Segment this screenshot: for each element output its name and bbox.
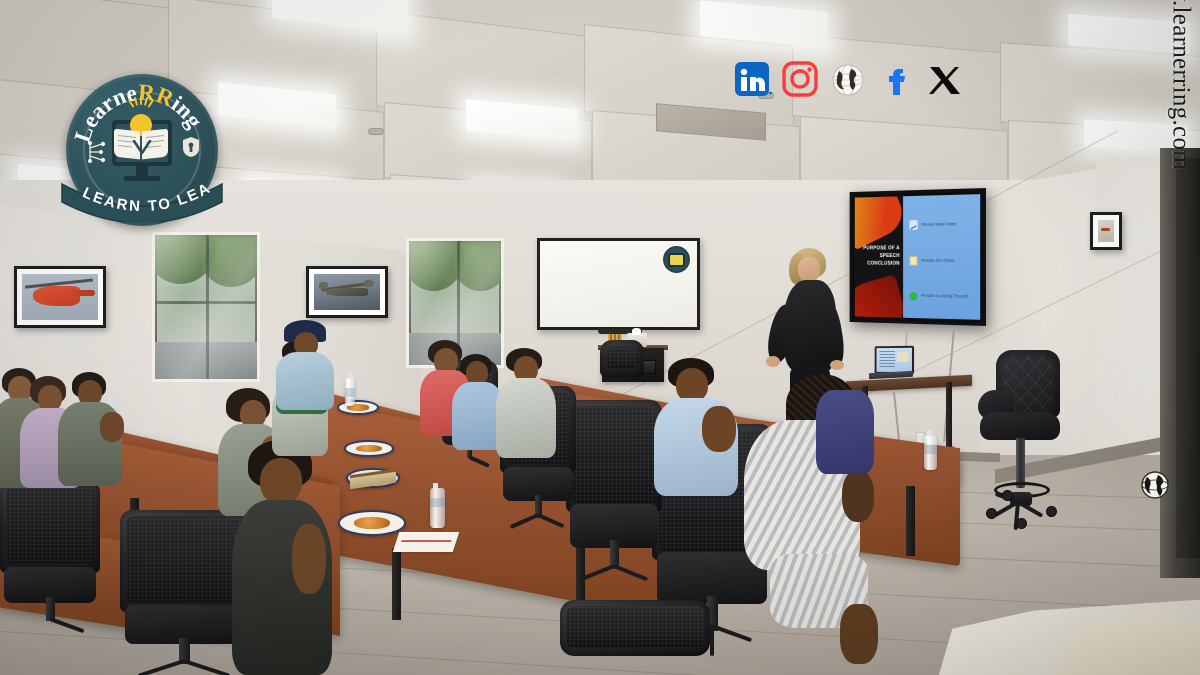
slide-bullets-panel: Review Main Points Restate the Thesis Pr… <box>903 194 980 320</box>
chair-caster <box>1016 518 1027 529</box>
instagram-icon[interactable] <box>781 60 821 100</box>
paper-plate <box>337 400 379 415</box>
slide-title-line-2: SPEECH <box>855 253 900 261</box>
node-network-icon <box>86 140 108 164</box>
water-bottle <box>430 488 445 528</box>
presentation-slide: PURPOSE OF A SPEECH CONCLUSION Review Ma… <box>855 194 980 320</box>
helicopter-photo <box>14 266 106 328</box>
office-chair[interactable] <box>566 400 662 580</box>
globe-icon[interactable] <box>829 60 869 100</box>
slide-bullet: Review Main Points <box>910 220 976 231</box>
student <box>58 372 128 482</box>
osprey-photo <box>306 266 388 318</box>
water-bottle <box>345 378 355 406</box>
office-chair[interactable] <box>0 480 100 630</box>
chair-cylinder <box>1016 438 1025 488</box>
brand-logo: LearneRRing <box>66 74 218 226</box>
document-icon <box>910 256 918 266</box>
student <box>654 358 742 494</box>
logo-ribbon: LEARN TO LEAD <box>60 178 224 222</box>
whiteboard-logo-icon <box>663 246 690 273</box>
presenter-left-hand <box>766 356 780 367</box>
podium-leg <box>946 382 952 454</box>
napkin <box>393 532 459 552</box>
office-chair[interactable] <box>600 340 644 400</box>
water-bottle <box>924 435 937 470</box>
slide-title-panel: PURPOSE OF A SPEECH CONCLUSION <box>855 196 903 317</box>
laptop[interactable] <box>875 346 914 374</box>
slide-bullet: Provide a Lasting Thought <box>910 291 976 301</box>
globe-watermark-icon <box>1140 470 1170 500</box>
chair-caster <box>986 508 997 519</box>
office-chair[interactable] <box>120 510 248 674</box>
table-leg <box>392 548 401 620</box>
slide-bullet-text: Restate the Thesis <box>921 259 954 264</box>
book-spine-v-icon <box>132 140 152 154</box>
student-with-cap <box>276 320 338 406</box>
chair-caster <box>1002 490 1013 501</box>
wall-mounted-tv[interactable]: PURPOSE OF A SPEECH CONCLUSION Review Ma… <box>850 188 986 326</box>
chart-icon <box>910 220 918 230</box>
slide-bullet: Restate the Thesis <box>910 256 976 266</box>
smoke-detector-icon <box>368 128 384 135</box>
slide-bullet-text: Provide a Lasting Thought <box>921 294 968 299</box>
slide-title-line-3: CONCLUSION <box>855 261 900 269</box>
chair-caster <box>1046 506 1057 517</box>
presenter-right-hand <box>830 360 844 370</box>
shield-icon <box>182 136 200 158</box>
table-leg <box>906 486 915 556</box>
student <box>232 440 342 675</box>
green-dot-icon <box>910 291 918 300</box>
door-opening[interactable] <box>1176 158 1200 558</box>
website-url-watermark: www.learnerring.com <box>1166 0 1194 170</box>
window-left <box>152 232 260 382</box>
student <box>816 390 876 476</box>
social-icons-bar <box>733 55 965 105</box>
whiteboard[interactable] <box>537 238 700 330</box>
paper-plate <box>344 440 394 457</box>
slide-bullet-text: Review Main Points <box>921 222 956 227</box>
laptop-display <box>877 348 912 372</box>
slide-title-line-1: PURPOSE OF A <box>855 246 900 254</box>
linkedin-icon[interactable] <box>733 60 773 100</box>
drafting-chair[interactable] <box>972 350 1068 528</box>
facebook-icon[interactable] <box>877 60 917 100</box>
paper-plate <box>338 510 406 536</box>
x-icon[interactable] <box>925 60 965 100</box>
small-wall-photo <box>1090 212 1122 250</box>
student <box>496 348 558 456</box>
office-chair[interactable] <box>560 600 710 675</box>
chair-seat <box>980 412 1060 440</box>
scene-photo: PURPOSE OF A SPEECH CONCLUSION Review Ma… <box>0 0 1200 675</box>
